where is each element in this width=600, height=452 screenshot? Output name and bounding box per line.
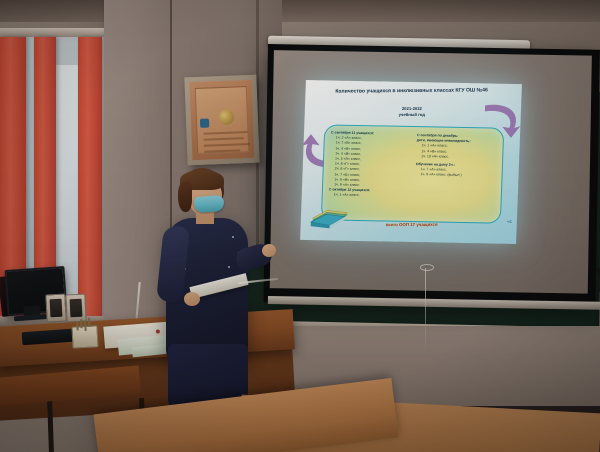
desktop-speaker[interactable] (65, 293, 86, 322)
window-blind-slat (78, 37, 102, 319)
slide-right-column: С сентября по декабрь: дети, имеющие инв… (415, 133, 499, 179)
certificate-document (195, 86, 249, 154)
certificate-seal-icon (219, 110, 235, 126)
slide-year: 2021-2022 (402, 106, 422, 111)
slide-corner-mark: ч1 (507, 219, 512, 224)
ceiling (0, 0, 600, 22)
face-mask (193, 195, 224, 213)
certificate-badge-icon (200, 119, 209, 128)
slide-term: учебный год (399, 112, 425, 117)
slide-subtitle: 2021-2022 учебный год (347, 106, 477, 117)
slide-total-line: всего ООП 17 учащихся (337, 222, 487, 228)
certificate-mat (190, 80, 255, 160)
desktop-speaker[interactable] (45, 293, 66, 322)
person-left-hand (184, 292, 200, 306)
right-item: 1ч. 8 «А» класс. (выбыл ) (415, 173, 497, 180)
slide-left-column: С сентября 11 учащихся: 1ч. 2 «А» класс,… (329, 130, 411, 199)
framed-certificate (184, 75, 259, 166)
screen-pull-ring[interactable] (420, 264, 434, 271)
blind-rail (0, 28, 112, 37)
classroom-presentation-photo: Количество учащихся в инклюзивных класса… (0, 0, 600, 452)
screen-pull-cord[interactable] (425, 268, 426, 352)
slide-title: Количество учащихся в инклюзивных класса… (322, 87, 502, 95)
person-hair-side (178, 182, 192, 212)
presenter-person (150, 168, 272, 408)
projected-slide: Количество учащихся в инклюзивных класса… (300, 80, 522, 244)
pen-cup[interactable] (71, 325, 98, 348)
